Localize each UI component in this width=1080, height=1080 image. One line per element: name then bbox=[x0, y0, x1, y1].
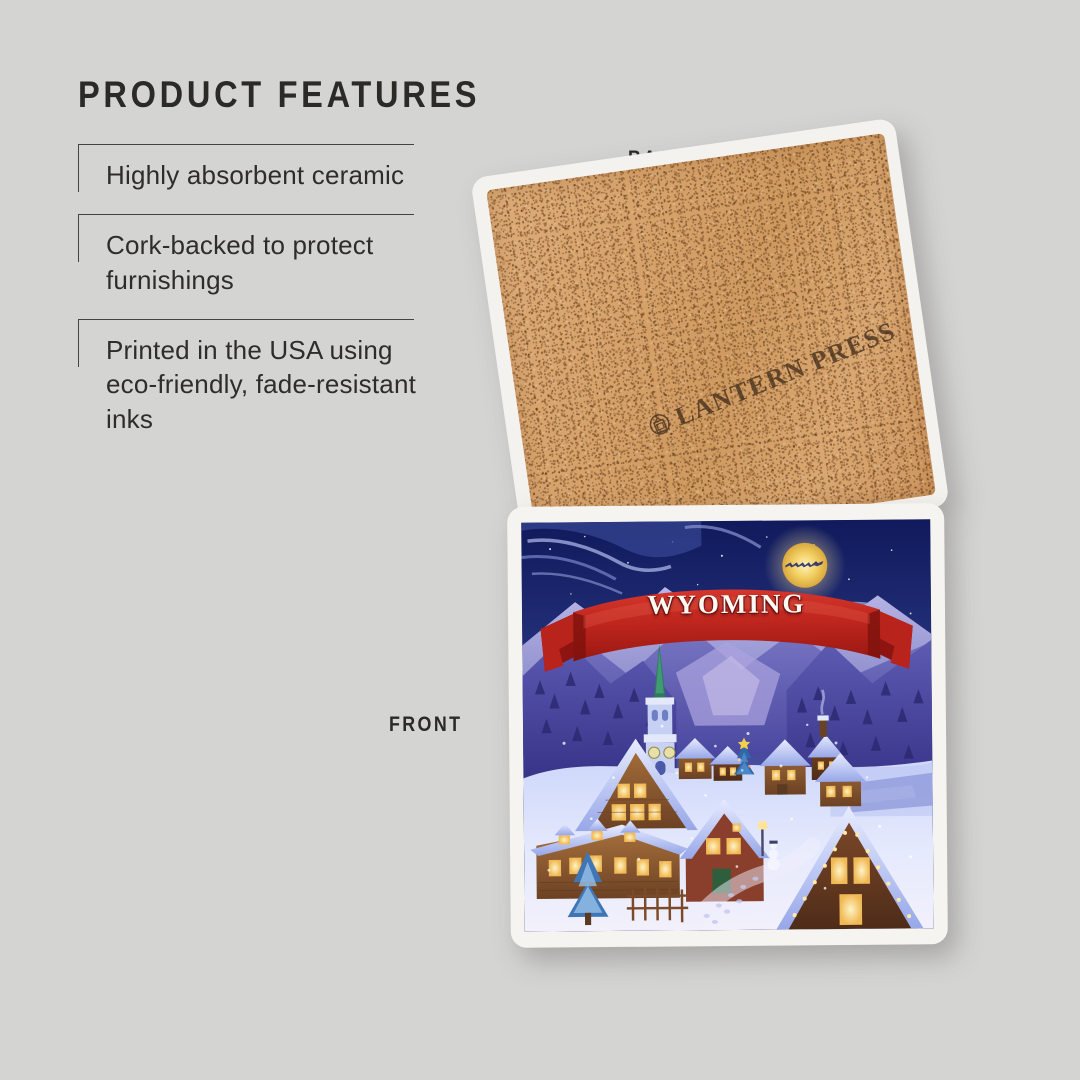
page-title: PRODUCT FEATURES bbox=[78, 74, 377, 116]
divider-tick bbox=[78, 144, 79, 192]
divider-line bbox=[78, 319, 414, 320]
label-front: FRONT bbox=[389, 713, 462, 737]
feature-text: Printed in the USA using eco-friendly, f… bbox=[106, 333, 418, 436]
coaster-back: LANTERN PRESS bbox=[470, 117, 950, 566]
divider-line bbox=[78, 214, 414, 215]
artwork-frame: WYOMING bbox=[521, 519, 934, 932]
product-features-panel: PRODUCT FEATURES Highly absorbent cerami… bbox=[78, 74, 418, 458]
feature-item-1: Highly absorbent ceramic bbox=[78, 144, 418, 192]
winter-village-artwork bbox=[521, 519, 934, 932]
divider-tick bbox=[78, 214, 79, 262]
feature-item-2: Cork-backed to protect furnishings bbox=[78, 214, 418, 297]
divider-line bbox=[78, 144, 414, 145]
cork-surface: LANTERN PRESS bbox=[486, 133, 936, 552]
feature-text: Cork-backed to protect furnishings bbox=[106, 228, 418, 297]
divider-tick bbox=[78, 319, 79, 367]
feature-text: Highly absorbent ceramic bbox=[106, 158, 418, 192]
feature-item-3: Printed in the USA using eco-friendly, f… bbox=[78, 319, 418, 436]
coaster-front: WYOMING bbox=[507, 503, 948, 948]
